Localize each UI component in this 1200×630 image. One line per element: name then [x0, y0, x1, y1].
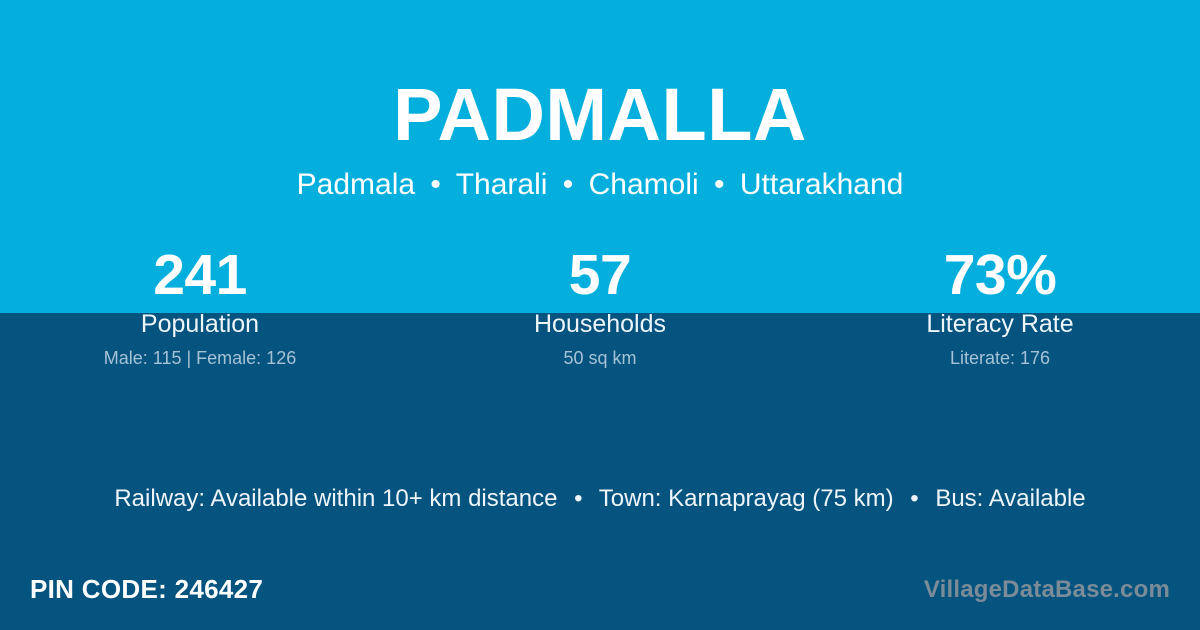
- card-footer: PIN CODE: 246427 VillageDataBase.com: [0, 572, 1200, 612]
- infrastructure-town: Town: Karnaprayag (75 km): [599, 485, 894, 512]
- stats-row: 241 Population Male: 115 | Female: 126 5…: [0, 243, 1200, 369]
- stat-sublabel: Male: 115 | Female: 126: [0, 347, 400, 369]
- stat-sublabel: Literate: 176: [800, 347, 1200, 369]
- pin-code: PIN CODE: 246427: [30, 572, 263, 606]
- stat-households: 57 Households 50 sq km: [400, 243, 800, 369]
- page-title: PADMALLA: [0, 78, 1200, 152]
- infrastructure-separator-icon: •: [900, 484, 928, 514]
- breadcrumb-separator-icon: •: [423, 168, 448, 201]
- breadcrumb-item-state: Uttarakhand: [740, 168, 903, 201]
- stat-value: 57: [400, 243, 800, 307]
- breadcrumb-separator-icon: •: [707, 168, 732, 201]
- breadcrumb-item-village: Padmala: [297, 168, 415, 201]
- breadcrumb-separator-icon: •: [556, 168, 581, 201]
- site-watermark: VillageDataBase.com: [924, 574, 1170, 606]
- village-info-card: PADMALLA Padmala • Tharali • Chamoli • U…: [0, 0, 1200, 630]
- stat-sublabel: 50 sq km: [400, 347, 800, 369]
- stat-population: 241 Population Male: 115 | Female: 126: [0, 243, 400, 369]
- infrastructure-railway: Railway: Available within 10+ km distanc…: [114, 485, 557, 512]
- stat-label: Population: [0, 309, 400, 339]
- infrastructure-separator-icon: •: [564, 484, 592, 514]
- stat-value: 241: [0, 243, 400, 307]
- card-header: PADMALLA Padmala • Tharali • Chamoli • U…: [0, 78, 1200, 201]
- stat-label: Households: [400, 309, 800, 339]
- stat-literacy-rate: 73% Literacy Rate Literate: 176: [800, 243, 1200, 369]
- infrastructure-bus: Bus: Available: [935, 485, 1085, 512]
- breadcrumb-item-district: Chamoli: [589, 168, 699, 201]
- stat-label: Literacy Rate: [800, 309, 1200, 339]
- breadcrumb: Padmala • Tharali • Chamoli • Uttarakhan…: [0, 168, 1200, 201]
- breadcrumb-item-block: Tharali: [456, 168, 548, 201]
- infrastructure-line: Railway: Available within 10+ km distanc…: [0, 484, 1200, 514]
- stat-value: 73%: [800, 243, 1200, 307]
